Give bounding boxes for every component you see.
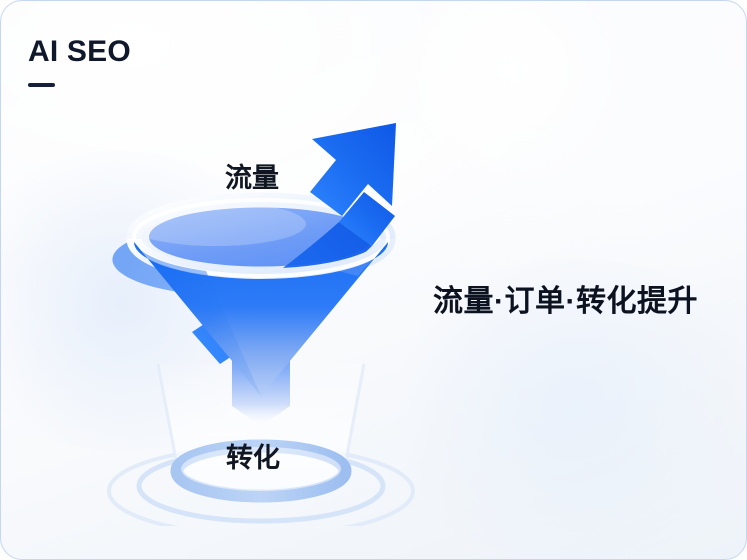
- title-underline-rule: [28, 83, 55, 87]
- funnel-label-traffic: 流量: [225, 156, 279, 195]
- promo-card: AI SEO 流量·订单·转化提升: [0, 0, 747, 560]
- title-block: AI SEO: [28, 37, 131, 87]
- page-title: AI SEO: [28, 37, 131, 67]
- funnel-label-conversion: 转化: [226, 436, 280, 475]
- headline-text: 流量·订单·转化提升: [433, 276, 698, 320]
